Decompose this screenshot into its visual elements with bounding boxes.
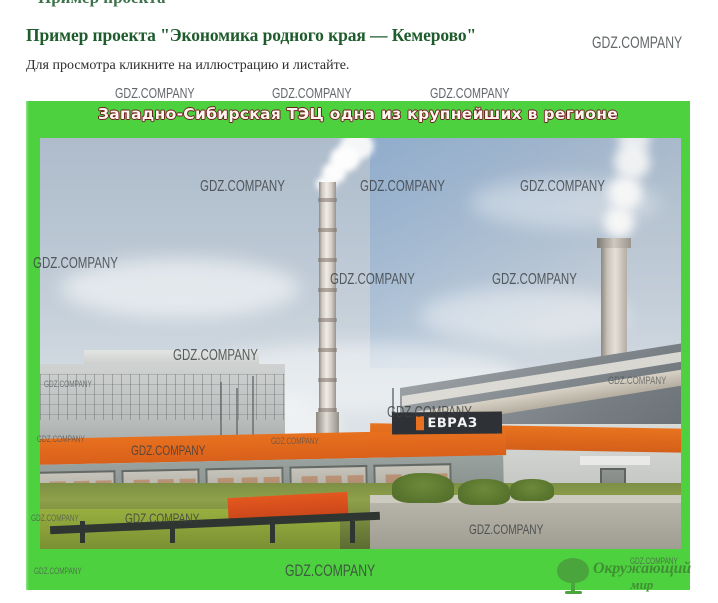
cloud: [60, 258, 300, 318]
illustration-frame[interactable]: Западно-Сибирская ТЭЦ одна из крупнейших…: [26, 101, 690, 590]
illustration-caption: Западно-Сибирская ТЭЦ одна из крупнейших…: [26, 105, 690, 123]
logo-line-1: Окружающий: [593, 561, 691, 577]
mast: [220, 382, 222, 440]
page-subtitle: Для просмотра кликните на иллюстрацию и …: [26, 58, 349, 74]
watermark: GDZ.COMPANY: [430, 85, 510, 102]
watermark: GDZ.COMPANY: [272, 85, 352, 102]
site-logo[interactable]: Окружающий мир: [556, 556, 688, 596]
tree-icon: [556, 558, 590, 594]
shrub: [458, 479, 510, 505]
page-title: Пример проекта "Экономика родного края —…: [26, 25, 476, 46]
illustration-photo[interactable]: ЕВРАЗ: [40, 138, 681, 549]
mast: [252, 376, 254, 440]
shrub: [392, 473, 454, 503]
shrub: [510, 479, 554, 501]
clipped-heading-text: Пример проекта: [38, 0, 165, 8]
mast: [236, 388, 238, 440]
clipped-heading-sliver: Пример проекта: [0, 0, 718, 14]
smoke-plume-right: [588, 138, 658, 244]
logo-line-2: мир: [593, 578, 691, 591]
page-root: Пример проекта Пример проекта "Экономика…: [0, 0, 718, 603]
watermark: GDZ.COMPANY: [592, 33, 682, 53]
cloud: [420, 288, 630, 343]
walkway: [370, 497, 681, 549]
evraz-mark-icon: [416, 416, 424, 430]
watermark: GDZ.COMPANY: [115, 85, 195, 102]
